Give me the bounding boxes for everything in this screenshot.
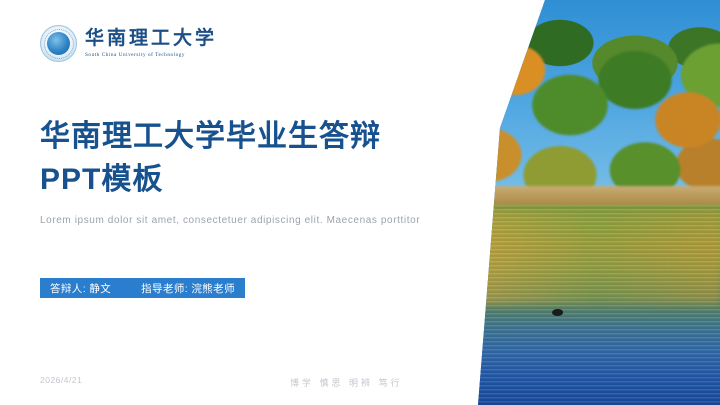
logo-name-en: South China University of Technology [85,52,217,58]
advisor-label: 指导老师: 浣熊老师 [141,281,235,296]
presenter-badge: 答辩人: 静文 指导老师: 浣熊老师 [40,278,245,298]
page-title: 华南理工大学毕业生答辩 PPT模板 [40,116,440,201]
university-motto: 博学 慎思 明辨 笃行 [290,376,403,389]
logo-name-cn: 华南理工大学 [85,29,217,49]
presentation-title-slide: 华南理工大学 South China University of Technol… [0,0,720,405]
water-ripples [0,205,720,405]
logo-text: 华南理工大学 South China University of Technol… [85,29,217,58]
subtitle-text: Lorem ipsum dolor sit amet, consectetuer… [40,215,460,226]
university-seal-icon [40,25,77,62]
duck-icon [552,309,563,316]
university-logo: 华南理工大学 South China University of Technol… [40,25,217,62]
presenter-label: 答辩人: 静文 [50,281,111,296]
title-line-2: PPT模板 [40,159,440,202]
title-line-1: 华南理工大学毕业生答辩 [40,120,381,153]
slide-date: 2026/4/21 [40,375,82,385]
